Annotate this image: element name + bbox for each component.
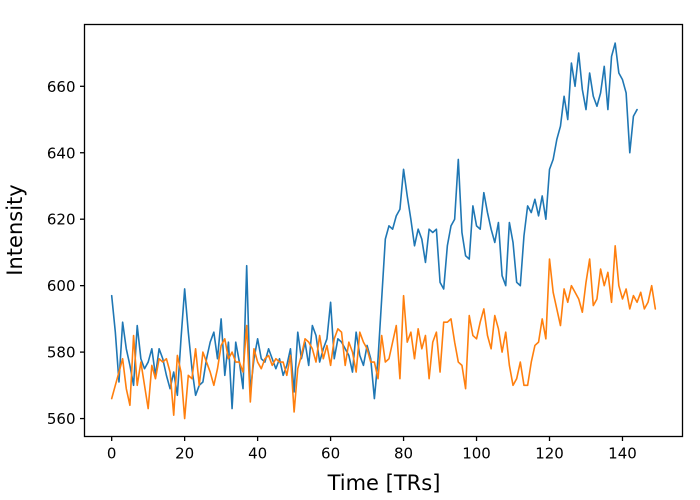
figure-background <box>0 0 700 500</box>
x-tick-label: 140 <box>608 445 637 463</box>
x-tick-label: 100 <box>462 445 491 463</box>
y-tick-label: 620 <box>47 211 76 229</box>
chart-figure: 560580600620640660 020406080100120140 Ti… <box>0 0 700 500</box>
x-tick-label: 120 <box>535 445 564 463</box>
x-axis-title: Time [TRs] <box>327 471 441 495</box>
y-tick-label: 580 <box>47 344 76 362</box>
x-tick-label: 40 <box>248 445 267 463</box>
y-axis-title: Intensity <box>3 184 27 275</box>
x-tick-label: 20 <box>175 445 194 463</box>
y-tick-label: 660 <box>47 78 76 96</box>
x-tick-label: 0 <box>107 445 117 463</box>
x-tick-label: 60 <box>321 445 340 463</box>
y-tick-label: 640 <box>47 144 76 162</box>
line-chart: 560580600620640660 020406080100120140 Ti… <box>0 0 700 500</box>
y-tick-label: 560 <box>47 410 76 428</box>
x-tick-label: 80 <box>394 445 413 463</box>
y-tick-label: 600 <box>47 277 76 295</box>
